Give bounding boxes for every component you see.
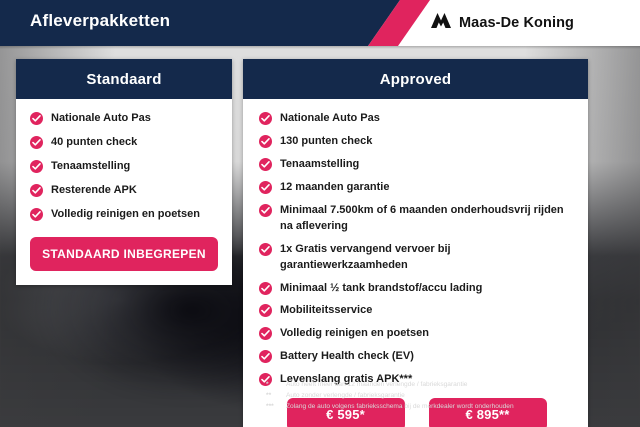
check-circle-icon bbox=[30, 160, 43, 173]
check-circle-icon bbox=[259, 158, 272, 171]
footnote-row: * Auto heeft meer dan 12 maanden verleng… bbox=[266, 380, 596, 391]
feature-label: Tenaamstelling bbox=[51, 160, 130, 172]
check-circle-icon bbox=[259, 135, 272, 148]
slide-root: Afleverpakketten Maas-De Koning Standaar… bbox=[0, 0, 640, 427]
footnote-text: Auto zonder verlengde / fabrieksgarantie bbox=[286, 391, 596, 402]
list-item: Resterende APK bbox=[30, 183, 218, 199]
footnote-text: Auto heeft meer dan 12 maanden verlengde… bbox=[286, 380, 596, 391]
card-standaard: Standaard Nationale Auto Pas 40 punten c… bbox=[16, 59, 232, 285]
brand-name: Maas-De Koning bbox=[459, 15, 574, 31]
footnote-mark: * bbox=[266, 380, 280, 391]
check-circle-icon bbox=[259, 327, 272, 340]
brand-lockup: Maas-De Koning bbox=[430, 12, 574, 34]
check-circle-icon bbox=[259, 350, 272, 363]
check-circle-icon bbox=[30, 136, 43, 149]
feature-label: Tenaamstelling bbox=[280, 158, 359, 170]
list-item: 130 punten check bbox=[259, 134, 574, 150]
list-item: Nationale Auto Pas bbox=[30, 111, 218, 127]
feature-label: Mobiliteitsservice bbox=[280, 304, 372, 316]
list-item: Tenaamstelling bbox=[259, 157, 574, 173]
list-item: Volledig reinigen en poetsen bbox=[30, 207, 218, 223]
feature-label: 1x Gratis vervangend vervoer bij garanti… bbox=[280, 243, 451, 271]
feature-label: Minimaal ½ tank brandstof/accu lading bbox=[280, 282, 482, 294]
check-circle-icon bbox=[259, 204, 272, 217]
check-circle-icon bbox=[30, 184, 43, 197]
footnotes: * Auto heeft meer dan 12 maanden verleng… bbox=[266, 380, 596, 413]
check-circle-icon bbox=[259, 112, 272, 125]
feature-label: 12 maanden garantie bbox=[280, 181, 389, 193]
list-item: Minimaal ½ tank brandstof/accu lading bbox=[259, 281, 574, 297]
card-approved-body: Nationale Auto Pas 130 punten check Tena… bbox=[243, 99, 588, 427]
feature-label: Minimaal 7.500km of 6 maanden onderhouds… bbox=[280, 204, 564, 232]
feature-label: Battery Health check (EV) bbox=[280, 350, 414, 362]
page-header: Afleverpakketten Maas-De Koning bbox=[0, 0, 640, 46]
check-circle-icon bbox=[259, 181, 272, 194]
check-circle-icon bbox=[30, 112, 43, 125]
list-item: Tenaamstelling bbox=[30, 159, 218, 175]
page-title: Afleverpakketten bbox=[30, 11, 170, 31]
feature-label: Nationale Auto Pas bbox=[51, 112, 151, 124]
list-item: Nationale Auto Pas bbox=[259, 111, 574, 127]
check-circle-icon bbox=[259, 282, 272, 295]
footnote-mark: ** bbox=[266, 391, 280, 402]
card-standaard-body: Nationale Auto Pas 40 punten check Tenaa… bbox=[16, 99, 232, 285]
check-circle-icon bbox=[259, 304, 272, 317]
header-shadow bbox=[0, 46, 640, 49]
standaard-feature-list: Nationale Auto Pas 40 punten check Tenaa… bbox=[30, 111, 218, 223]
list-item: Volledig reinigen en poetsen bbox=[259, 326, 574, 342]
list-item: Minimaal 7.500km of 6 maanden onderhouds… bbox=[259, 203, 574, 235]
feature-label: 40 punten check bbox=[51, 136, 137, 148]
feature-label: Resterende APK bbox=[51, 184, 137, 196]
footnote-text: Zolang de auto volgens fabrieksschema bi… bbox=[286, 402, 596, 413]
approved-feature-list: Nationale Auto Pas 130 punten check Tena… bbox=[259, 111, 574, 388]
feature-label: Volledig reinigen en poetsen bbox=[280, 327, 429, 339]
footnote-row: ** Auto zonder verlengde / fabrieksgaran… bbox=[266, 391, 596, 402]
maas-de-koning-m-logo-icon bbox=[430, 12, 452, 34]
card-approved: Approved Nationale Auto Pas 130 punten c… bbox=[243, 59, 588, 427]
list-item: 12 maanden garantie bbox=[259, 180, 574, 196]
footnote-row: *** Zolang de auto volgens fabrieksschem… bbox=[266, 402, 596, 413]
footnote-mark: *** bbox=[266, 402, 280, 413]
feature-label: Volledig reinigen en poetsen bbox=[51, 208, 200, 220]
card-approved-title: Approved bbox=[243, 59, 588, 99]
standaard-inbegrepen-button[interactable]: STANDAARD INBEGREPEN bbox=[30, 237, 218, 271]
list-item: 40 punten check bbox=[30, 135, 218, 151]
list-item: Battery Health check (EV) bbox=[259, 349, 574, 365]
card-standaard-title: Standaard bbox=[16, 59, 232, 99]
feature-label: Nationale Auto Pas bbox=[280, 112, 380, 124]
check-circle-icon bbox=[30, 208, 43, 221]
list-item: Mobiliteitsservice bbox=[259, 303, 574, 319]
list-item: 1x Gratis vervangend vervoer bij garanti… bbox=[259, 242, 574, 274]
feature-label: 130 punten check bbox=[280, 135, 372, 147]
check-circle-icon bbox=[259, 243, 272, 256]
